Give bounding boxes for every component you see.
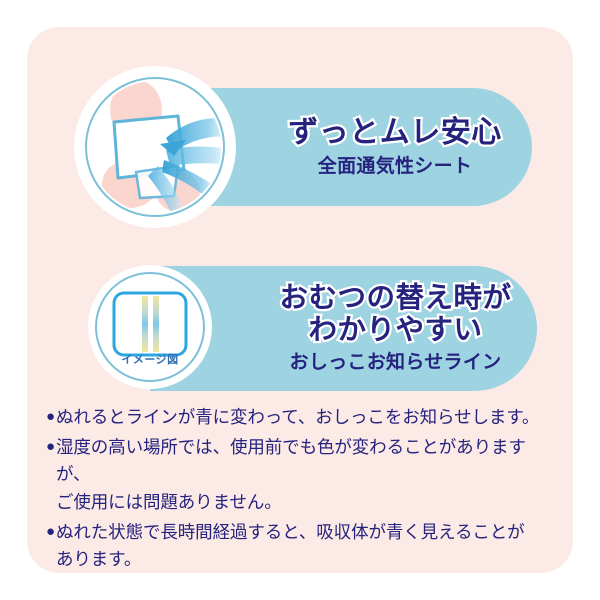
note-line: あります。 xyxy=(56,549,141,569)
feature-icon-circle-breathable xyxy=(74,66,236,228)
breathable-diaper-icon xyxy=(74,66,236,228)
note-text: ぬれた状態で長時間経過すると、吸収体が青く見えることが あります。 xyxy=(56,519,558,574)
note-line: 湿度の高い場所では、使用前でも色が変わることがありますが、 xyxy=(56,437,526,485)
note-item: ● ぬれるとラインが青に変わって、おしっこをお知らせします。 xyxy=(46,404,558,432)
note-item: ● ぬれた状態で長時間経過すると、吸収体が青く見えることが あります。 xyxy=(46,519,558,574)
feature-title-indicator: おむつの替え時が わかりやすい xyxy=(267,283,525,347)
banner-text-group: おむつの替え時が わかりやすい おしっこお知らせライン xyxy=(267,283,525,374)
advertisement-panel: ずっとムレ安心 全面通気性シート おむつの替え時が わかりやすい おしっこお知ら… xyxy=(0,0,600,600)
icon-caption-image-diagram: イメージ図 xyxy=(88,351,212,367)
wetness-indicator-icon xyxy=(88,265,212,389)
bullet-dot-icon: ● xyxy=(46,519,55,545)
notes-list: ● ぬれるとラインが青に変わって、おしっこをお知らせします。 ● 湿度の高い場所… xyxy=(46,404,558,576)
bullet-dot-icon: ● xyxy=(46,404,55,430)
note-item: ● 湿度の高い場所では、使用前でも色が変わることがありますが、 ご使用には問題あ… xyxy=(46,434,558,517)
feature-title-indicator-line2: わかりやすい xyxy=(267,315,525,347)
banner-text-group: ずっとムレ安心 全面通気性シート xyxy=(269,116,521,177)
feature-title-indicator-line1: おむつの替え時が xyxy=(267,283,525,315)
feature-icon-circle-indicator: イメージ図 xyxy=(88,265,212,389)
note-line: ぬれるとラインが青に変わって、おしっこをお知らせします。 xyxy=(56,407,539,427)
note-text: 湿度の高い場所では、使用前でも色が変わることがありますが、 ご使用には問題ありま… xyxy=(56,434,558,517)
feature-title-breathable: ずっとムレ安心 xyxy=(269,116,521,150)
feature-subtitle-indicator: おしっこお知らせライン xyxy=(267,353,525,374)
bullet-dot-icon: ● xyxy=(46,434,55,460)
note-text: ぬれるとラインが青に変わって、おしっこをお知らせします。 xyxy=(56,404,558,432)
note-line: ご使用には問題ありません。 xyxy=(56,492,282,512)
feature-subtitle-breathable: 全面通気性シート xyxy=(269,157,521,178)
note-line: ぬれた状態で長時間経過すると、吸収体が青く見えることが xyxy=(56,522,525,542)
